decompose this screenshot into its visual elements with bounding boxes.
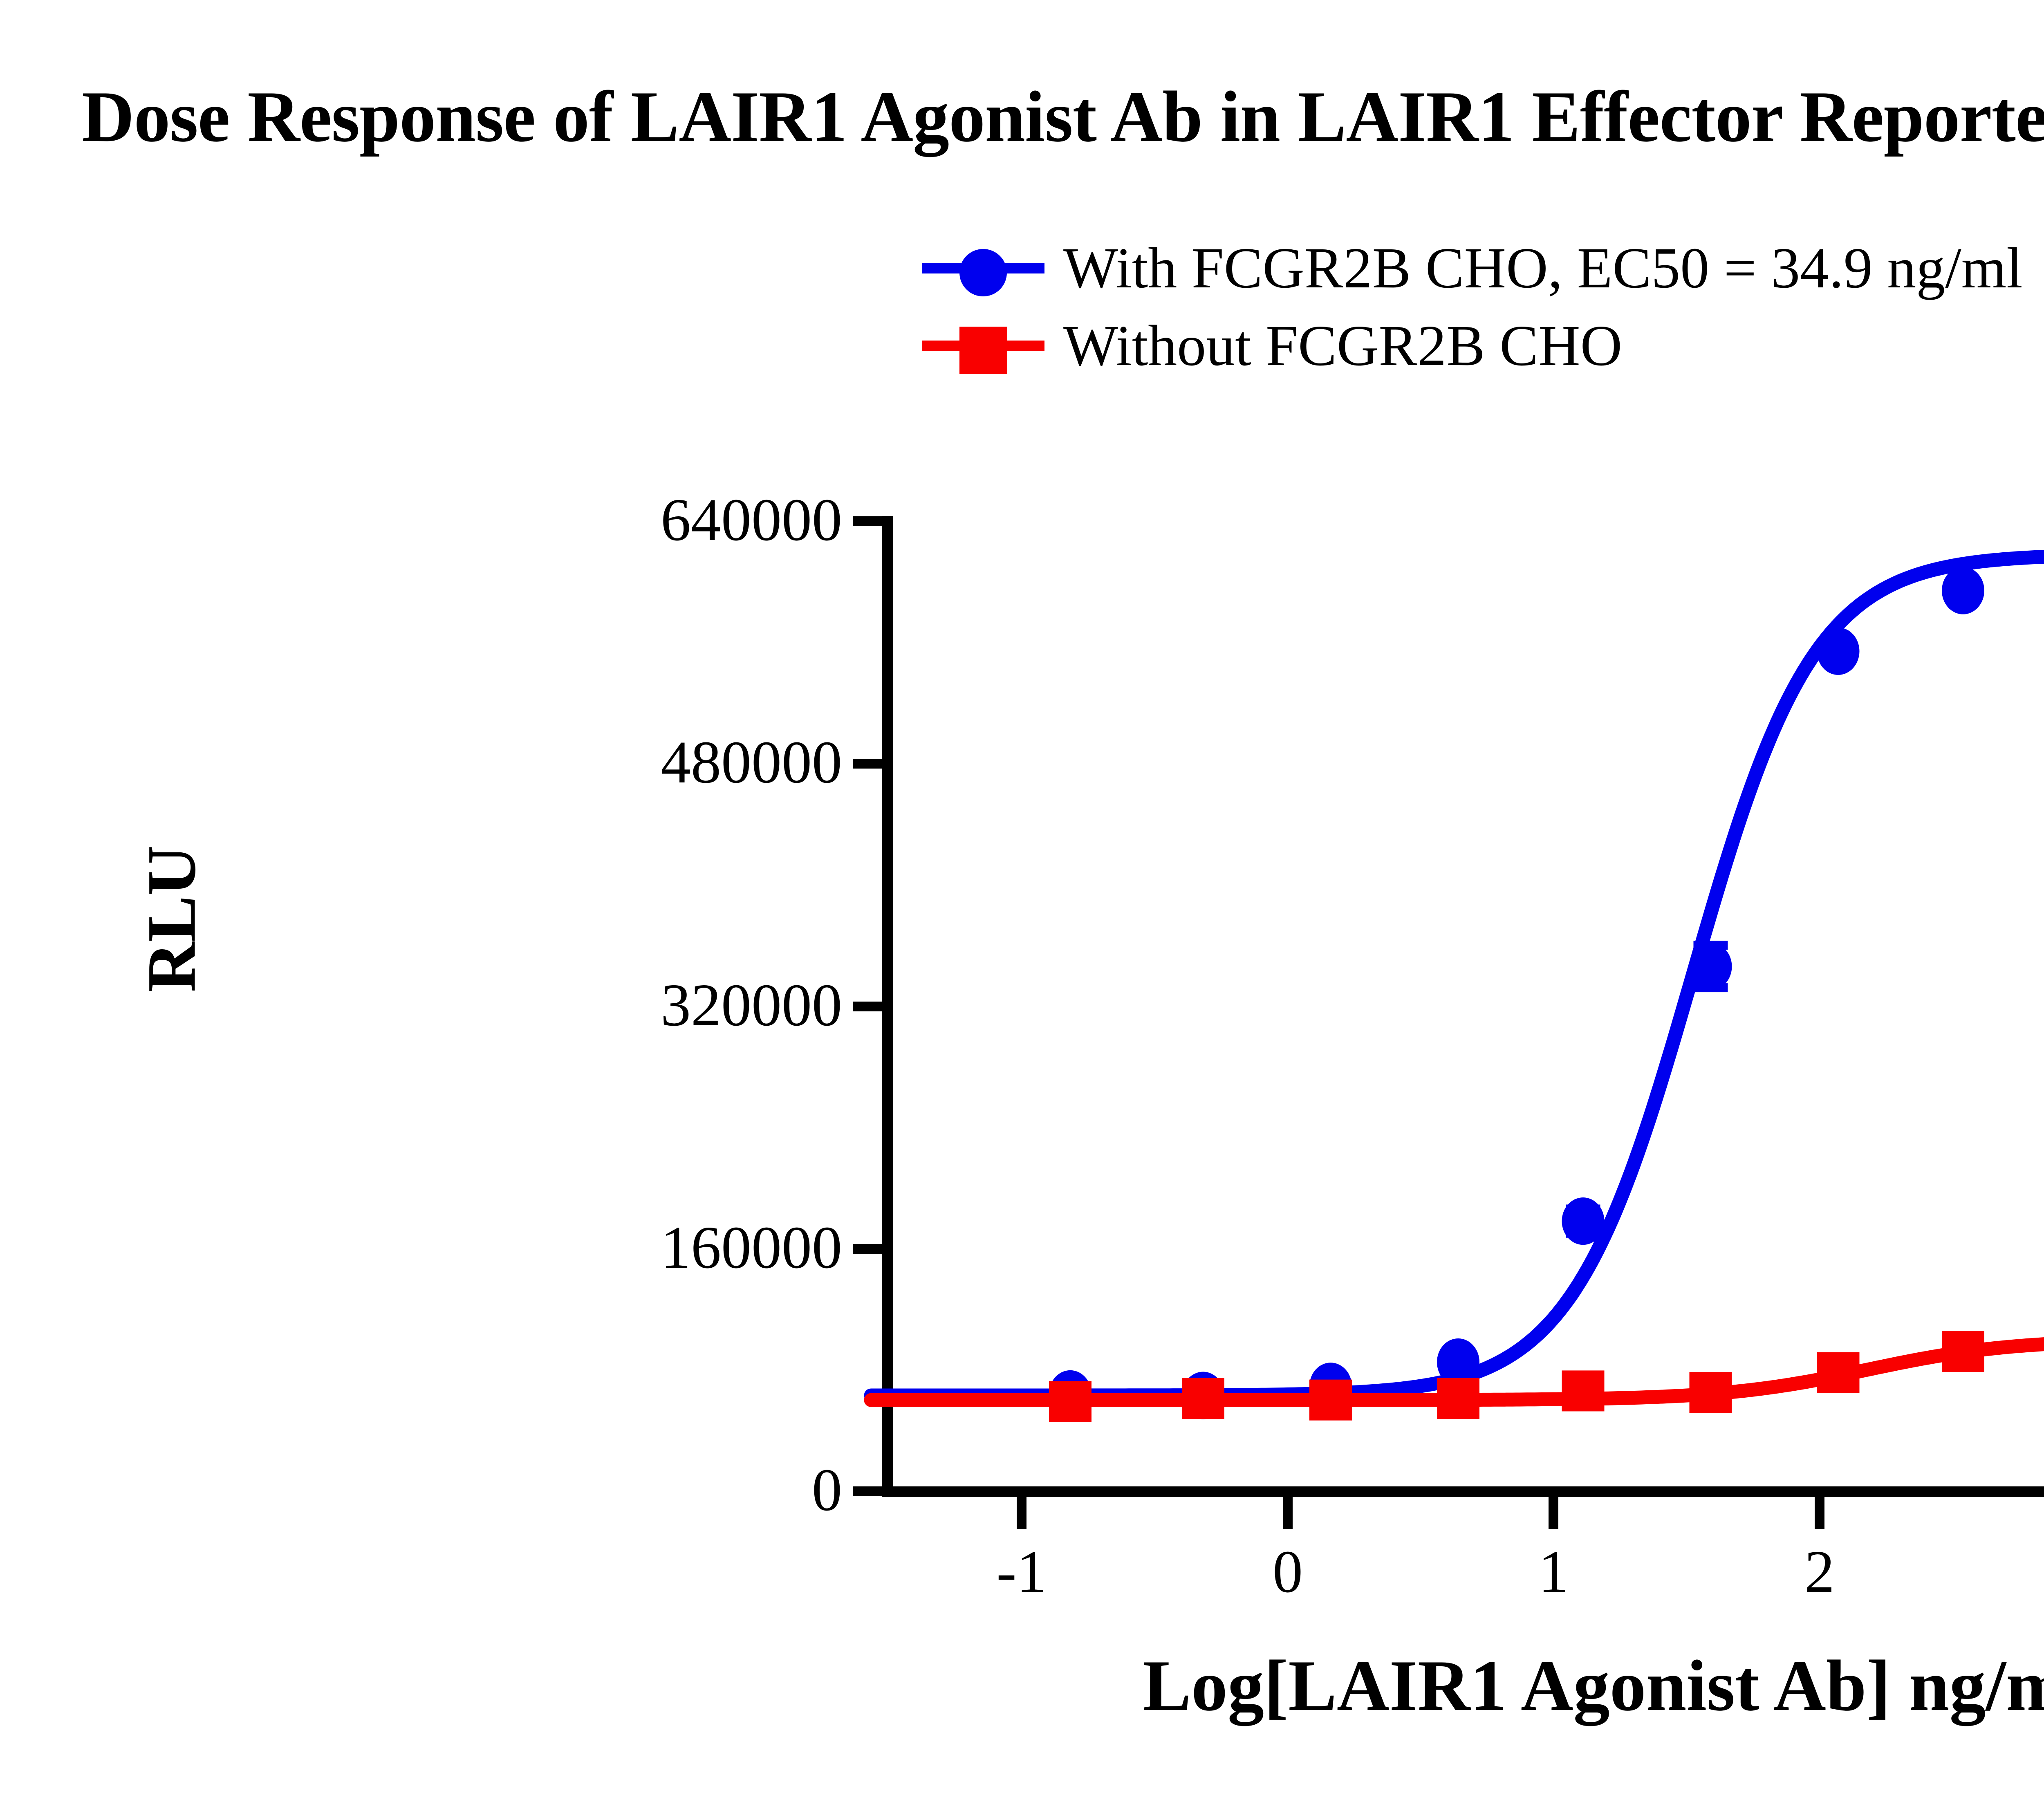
data-point-marker [1182, 1372, 1224, 1419]
x-tick-label-3: 3 [2024, 1537, 2044, 1607]
data-point-marker [1049, 1370, 1091, 1418]
x-tick-label-2: 2 [1758, 1537, 1881, 1607]
x-tick-label--1: -1 [960, 1537, 1083, 1607]
y-tick-480000 [853, 759, 882, 769]
data-point-marker [1942, 567, 1984, 614]
x-tick-label-0: 0 [1226, 1537, 1349, 1607]
x-tick-0 [1283, 1497, 1293, 1529]
y-axis-line [882, 516, 893, 1497]
x-axis-label: Log[LAIR1 Agonist Ab] ng/ml [858, 1643, 2044, 1728]
y-tick-label-320000: 320000 [433, 970, 842, 1040]
y-tick-label-640000: 640000 [433, 485, 842, 555]
data-point-marker [1437, 1338, 1479, 1386]
y-tick-640000 [853, 516, 882, 526]
x-tick-2 [1815, 1497, 1824, 1529]
y-tick-0 [853, 1486, 882, 1496]
data-point-marker [1562, 1197, 1605, 1245]
data-point-marker [1049, 1381, 1091, 1422]
fit-curve-1 [871, 1340, 2044, 1400]
fit-curve-0 [871, 554, 2044, 1396]
y-axis-label: RLU [132, 735, 212, 1103]
data-point-marker [1817, 1352, 1860, 1393]
y-tick-label-0: 0 [433, 1455, 842, 1525]
series-0 [1049, 512, 2044, 1419]
x-tick--1 [1017, 1497, 1026, 1529]
figure-root: Dose Response of LAIR1 Agonist Ab in LAI… [0, 0, 2044, 1811]
plot-area: 0 160000 320000 480000 640000 -1 0 1 2 3… [0, 0, 2044, 1811]
data-point-marker [1690, 943, 1732, 990]
y-tick-320000 [853, 1002, 882, 1011]
x-tick-1 [1549, 1497, 1558, 1529]
series-1 [1049, 1318, 2044, 1422]
x-axis-line [882, 1486, 2044, 1497]
y-tick-160000 [853, 1244, 882, 1254]
data-point-marker [1562, 1370, 1605, 1411]
data-point-marker [1817, 628, 1860, 675]
data-point-marker [1437, 1378, 1479, 1419]
y-tick-label-480000: 480000 [433, 728, 842, 797]
y-tick-label-160000: 160000 [433, 1213, 842, 1282]
data-point-marker [1690, 1372, 1732, 1413]
data-point-marker [1182, 1378, 1224, 1419]
x-tick-label-1: 1 [1492, 1537, 1615, 1607]
data-point-marker [1942, 1331, 1984, 1372]
data-point-marker [1309, 1380, 1352, 1421]
data-point-marker [1309, 1363, 1352, 1410]
